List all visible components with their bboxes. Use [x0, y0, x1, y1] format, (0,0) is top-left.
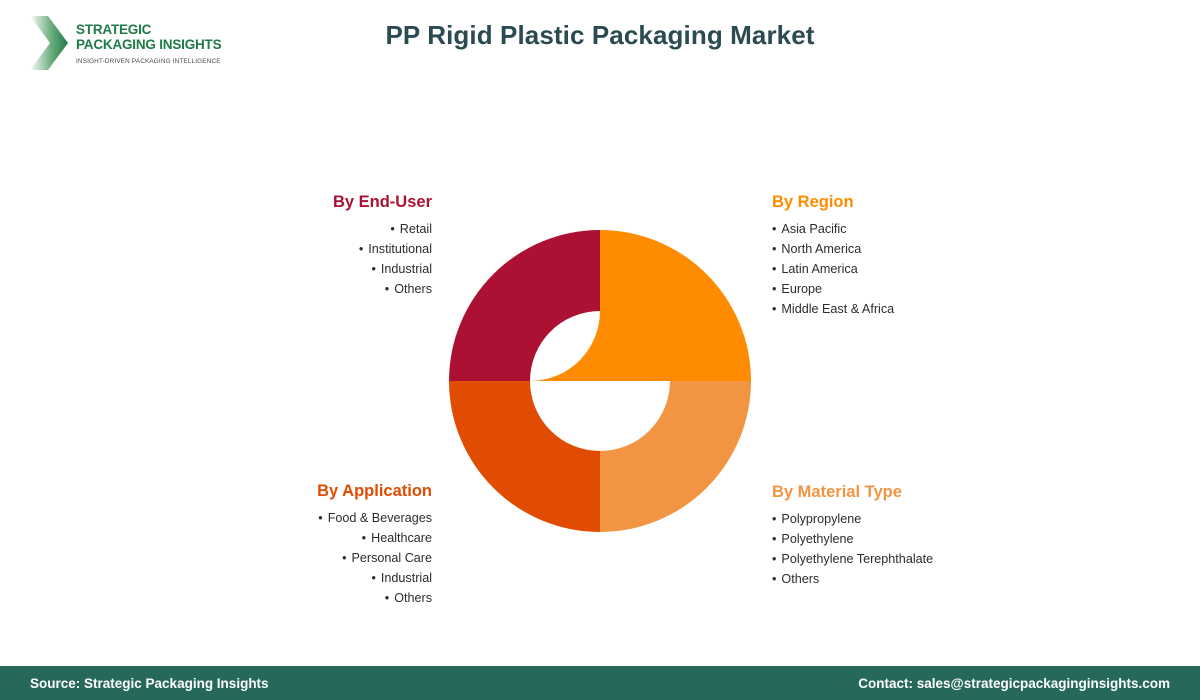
- list-item: Food & Beverages: [150, 508, 432, 528]
- segment-title-material-type: By Material Type: [772, 483, 1102, 502]
- segment-list-region: Asia Pacific North America Latin America…: [772, 219, 1072, 319]
- list-item: Middle East & Africa: [772, 299, 1072, 319]
- list-item: Polyethylene Terephthalate: [772, 549, 1102, 569]
- segment-block-region: By Region Asia Pacific North America Lat…: [772, 193, 1072, 319]
- list-item: Others: [772, 569, 1102, 589]
- donut-slice-application: [449, 381, 600, 532]
- list-item: Personal Care: [150, 548, 432, 568]
- list-item: Others: [150, 588, 432, 608]
- segment-title-application: By Application: [150, 482, 432, 501]
- list-item: Others: [190, 279, 432, 299]
- segment-title-region: By Region: [772, 193, 1072, 212]
- list-item: Asia Pacific: [772, 219, 1072, 239]
- segment-block-end-user: By End-User Retail Institutional Industr…: [190, 193, 432, 299]
- list-item: Europe: [772, 279, 1072, 299]
- donut-slice-end-user: [449, 230, 600, 381]
- list-item: Polypropylene: [772, 509, 1102, 529]
- segment-list-material-type: Polypropylene Polyethylene Polyethylene …: [772, 509, 1102, 589]
- donut-slice-material-type: [600, 381, 751, 532]
- segment-title-end-user: By End-User: [190, 193, 432, 212]
- page-footer: Source: Strategic Packaging Insights Con…: [0, 666, 1200, 700]
- list-item: Industrial: [190, 259, 432, 279]
- donut-chart: [449, 230, 751, 532]
- list-item: Healthcare: [150, 528, 432, 548]
- segment-list-application: Food & Beverages Healthcare Personal Car…: [150, 508, 432, 608]
- list-item: North America: [772, 239, 1072, 259]
- footer-source: Source: Strategic Packaging Insights: [30, 676, 269, 691]
- logo-tagline: INSIGHT-DRIVEN PACKAGING INTELLIGENCE: [76, 58, 221, 65]
- page-title: PP Rigid Plastic Packaging Market: [0, 20, 1200, 51]
- list-item: Latin America: [772, 259, 1072, 279]
- list-item: Retail: [190, 219, 432, 239]
- segment-list-end-user: Retail Institutional Industrial Others: [190, 219, 432, 299]
- segment-block-application: By Application Food & Beverages Healthca…: [150, 482, 432, 608]
- list-item: Polyethylene: [772, 529, 1102, 549]
- page-header: STRATEGIC PACKAGING INSIGHTS INSIGHT-DRI…: [0, 0, 1200, 92]
- segment-block-material-type: By Material Type Polypropylene Polyethyl…: [772, 483, 1102, 589]
- list-item: Institutional: [190, 239, 432, 259]
- list-item: Industrial: [150, 568, 432, 588]
- footer-contact: Contact: sales@strategicpackaginginsight…: [858, 676, 1170, 691]
